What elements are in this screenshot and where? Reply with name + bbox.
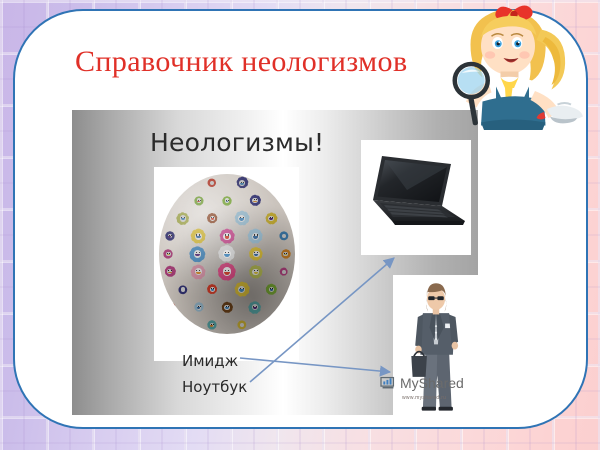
label-laptop: Ноутбук [182, 378, 247, 396]
myshared-logo-icon [380, 376, 396, 390]
arrow-overlay [72, 110, 478, 415]
slide-root: Справочник неологизмов Неологизмы! [0, 0, 600, 450]
label-image: Имидж [182, 352, 238, 370]
watermark-text: MyShared [400, 375, 464, 391]
page-title: Справочник неологизмов [75, 45, 408, 79]
watermark-subtext: www.myshared.ru [402, 395, 446, 401]
cartoon-girl-with-magnifier [430, 2, 595, 132]
content-panel: Неологизмы! [72, 110, 478, 415]
arrow-to-woman [240, 358, 390, 372]
arrow-to-laptop [250, 258, 394, 382]
watermark: MyShared [380, 375, 464, 391]
